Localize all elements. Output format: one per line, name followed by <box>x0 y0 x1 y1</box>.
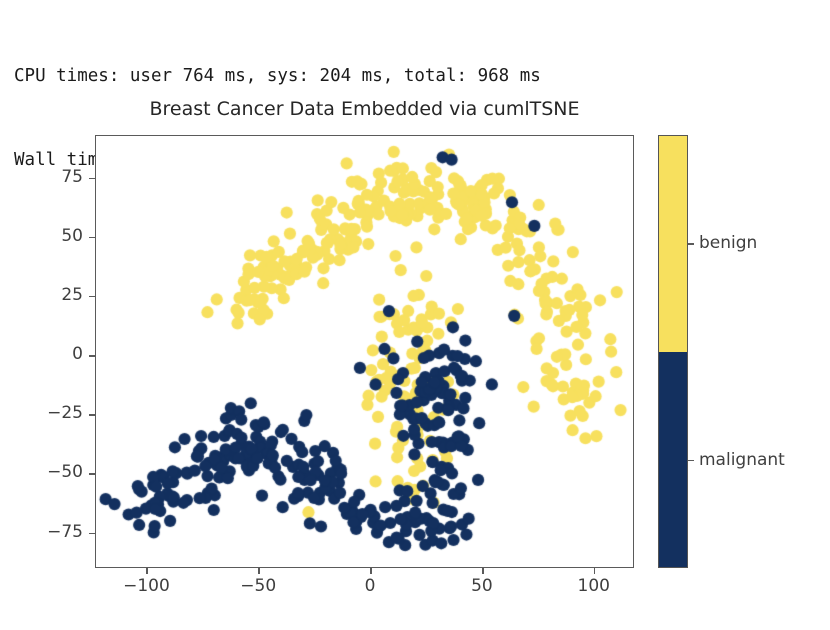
notebook-cell-output: CPU times: user 764 ms, sys: 204 ms, tot… <box>0 0 830 630</box>
x-tick-label: 50 <box>471 576 493 596</box>
colorbar-label-malignant: malignant <box>699 450 785 470</box>
x-tick-label: 100 <box>578 576 610 596</box>
x-tick-mark <box>258 568 260 574</box>
colorbar: benignmalignant <box>658 135 688 568</box>
x-tick-mark <box>146 568 148 574</box>
colorbar-segment-malignant <box>659 352 687 568</box>
matplotlib-figure: Breast Cancer Data Embedded via cumlTSNE… <box>0 80 830 630</box>
colorbar-tick-mark <box>688 243 694 245</box>
x-tick-mark <box>594 568 596 574</box>
x-tick-label: 0 <box>365 576 376 596</box>
x-tick-mark <box>482 568 484 574</box>
scatter-plot-axes <box>95 135 634 568</box>
y-tick-mark <box>89 533 95 535</box>
y-tick-mark <box>89 473 95 475</box>
colorbar-gradient <box>658 135 688 568</box>
y-tick-mark <box>89 296 95 298</box>
x-tick-label: −50 <box>240 576 276 596</box>
y-tick-mark <box>89 237 95 239</box>
page-title: Breast Cancer Data Embedded via cumlTSNE <box>95 98 634 120</box>
colorbar-segment-benign <box>659 136 687 352</box>
scatter-points-layer <box>96 136 634 568</box>
x-tick-label: −100 <box>123 576 170 596</box>
y-tick-mark <box>89 414 95 416</box>
y-tick-mark <box>89 355 95 357</box>
y-tick-mark <box>89 178 95 180</box>
x-tick-mark <box>370 568 372 574</box>
colorbar-tick-mark <box>688 460 694 462</box>
colorbar-label-benign: benign <box>699 233 757 253</box>
